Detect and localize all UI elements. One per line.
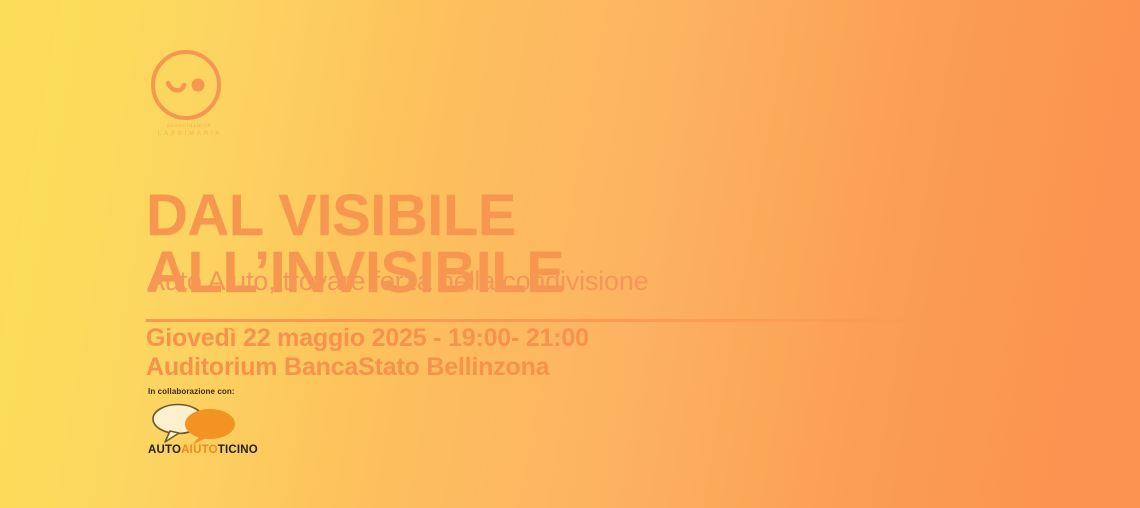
wordmark-part-aiuto: AIUTO xyxy=(181,444,218,456)
winking-face-circle-icon xyxy=(146,47,230,127)
wordmark-part-ticino: TICINO xyxy=(218,444,258,456)
event-details: Giovedì 22 maggio 2025 - 19:00- 21:00 Au… xyxy=(146,324,589,382)
divider-rule xyxy=(146,319,918,322)
emblem-caption: associazione L A P S I M A R I A xyxy=(148,122,230,138)
autoaiutoticino-wordmark: AUTOAIUTOTICINO xyxy=(148,444,258,456)
wordmark-part-auto: AUTO xyxy=(148,444,181,456)
collaboration-block: In collaborazione con: AUTOAIUTOTICINO xyxy=(148,386,348,458)
collaboration-label: In collaborazione con: xyxy=(148,386,348,397)
poster-content: associazione L A P S I M A R I A DAL VIS… xyxy=(146,0,1046,508)
poster-subtitle: Auto Aiuto, trovare forza nella condivis… xyxy=(147,265,649,297)
autoaiutoticino-logo: AUTOAIUTOTICINO xyxy=(148,400,240,458)
event-poster: associazione L A P S I M A R I A DAL VIS… xyxy=(0,0,1140,508)
association-emblem: associazione L A P S I M A R I A xyxy=(146,47,230,143)
two-speech-bubbles-icon xyxy=(148,400,240,446)
